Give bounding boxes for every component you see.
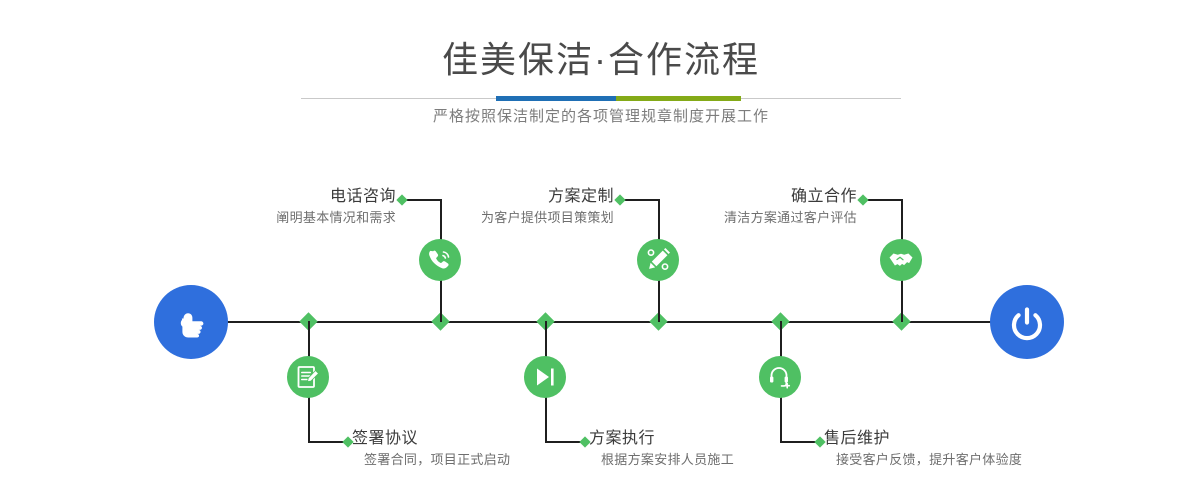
step-icon-top-3[interactable]: [880, 239, 922, 281]
step-icon-top-1[interactable]: [419, 239, 461, 281]
step-label-bottom-3: 售后维护 接受客户反馈，提升客户体验度: [824, 428, 1154, 470]
timeline-start-endpoint: [154, 285, 228, 359]
step-title: 售后维护: [824, 428, 1154, 450]
headset-support-icon: [767, 364, 793, 390]
connector-horizontal-top-3: [864, 199, 903, 201]
step-desc: 接受客户反馈，提升客户体验度: [824, 450, 1154, 470]
step-label-top-2: 方案定制 为客户提供项目策策划: [358, 186, 614, 228]
step-desc: 清洁方案通过客户评估: [601, 208, 857, 228]
power-icon: [1005, 300, 1049, 344]
step-icon-bottom-1[interactable]: [287, 356, 329, 398]
handshake-icon: [888, 247, 914, 273]
step-title: 确立合作: [601, 186, 857, 208]
step-icon-bottom-2[interactable]: [524, 356, 566, 398]
page-subtitle: 严格按照保洁制定的各项管理规章制度开展工作: [0, 106, 1202, 128]
title-divider: [301, 96, 901, 102]
step-icon-bottom-3[interactable]: [759, 356, 801, 398]
page-header: 佳美保洁·合作流程 严格按照保洁制定的各项管理规章制度开展工作: [0, 0, 1202, 150]
play-execute-icon: [532, 364, 558, 390]
step-icon-top-2[interactable]: [637, 239, 679, 281]
step-desc: 为客户提供项目策策划: [358, 208, 614, 228]
document-sign-icon: [295, 364, 321, 390]
phone-call-icon: [427, 247, 453, 273]
step-label-top-3: 确立合作 清洁方案通过客户评估: [601, 186, 857, 228]
divider-green-segment: [616, 96, 741, 101]
page-title: 佳美保洁·合作流程: [0, 38, 1202, 82]
pencil-design-icon: [645, 247, 671, 273]
connector-tip-top-3: [857, 194, 868, 205]
divider-blue-segment: [496, 96, 616, 101]
timeline-end-endpoint: [990, 285, 1064, 359]
pointing-hand-icon: [169, 300, 213, 344]
step-title: 方案定制: [358, 186, 614, 208]
